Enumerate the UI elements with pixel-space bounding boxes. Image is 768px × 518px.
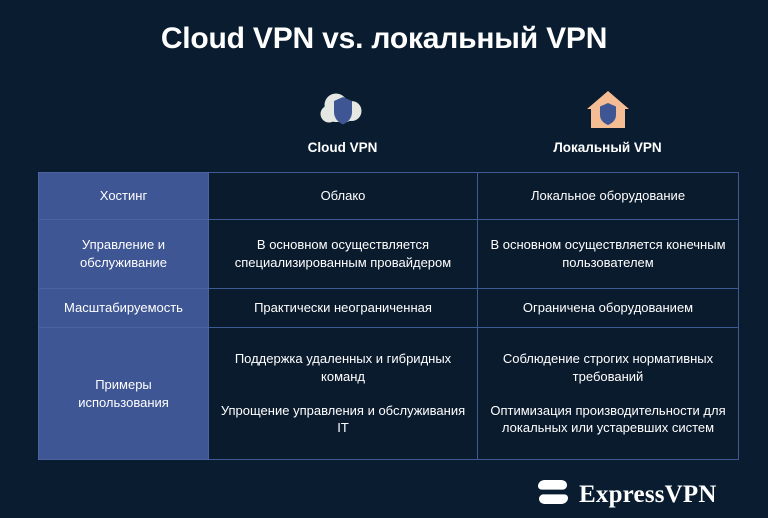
column-header-cloud-label: Cloud VPN (308, 140, 378, 155)
cell-onprem-usecases-item-1: Соблюдение строгих нормативных требовани… (488, 350, 728, 385)
expressvpn-wordmark: ExpressVPN (579, 482, 717, 507)
page-title: Cloud VPN vs. локальный VPN (0, 22, 768, 56)
cloud-shield-icon (320, 86, 366, 134)
expressvpn-logo-icon (536, 477, 570, 512)
cell-cloud-usecases-item-1: Поддержка удаленных и гибридных команд (219, 350, 467, 385)
comparison-table: Хостинг Облако Локальное оборудование Уп… (38, 172, 739, 460)
column-header-onprem: Локальный VPN (477, 86, 738, 164)
cell-cloud-hosting: Облако (209, 173, 478, 220)
house-shield-icon (585, 86, 631, 134)
row-header-scalability: Масштабируемость (39, 289, 209, 328)
cell-cloud-management: В основном осуществляется специализирова… (209, 220, 478, 289)
row-header-hosting: Хостинг (39, 173, 209, 220)
row-header-usecases: Примеры использования (39, 328, 209, 460)
cell-onprem-hosting: Локальное оборудование (478, 173, 739, 220)
table-row: Хостинг Облако Локальное оборудование (39, 173, 739, 220)
column-header-onprem-label: Локальный VPN (553, 140, 661, 155)
table-row: Примеры использования Поддержка удаленны… (39, 328, 739, 460)
cell-onprem-management: В основном осуществляется конечным польз… (478, 220, 739, 289)
row-header-management: Управление и обслуживание (39, 220, 209, 289)
cell-onprem-usecases-item-2: Оптимизация производительности для локал… (488, 402, 728, 437)
cell-cloud-usecases: Поддержка удаленных и гибридных команд У… (209, 328, 478, 460)
expressvpn-branding: ExpressVPN (536, 477, 717, 512)
column-header-cloud: Cloud VPN (208, 86, 477, 164)
infographic-page: Cloud VPN vs. локальный VPN Cloud VPN (0, 0, 768, 518)
cell-onprem-scalability: Ограничена оборудованием (478, 289, 739, 328)
table-row: Управление и обслуживание В основном осу… (39, 220, 739, 289)
cell-cloud-scalability: Практически неограниченная (209, 289, 478, 328)
cell-onprem-usecases: Соблюдение строгих нормативных требовани… (478, 328, 739, 460)
table-row: Масштабируемость Практически неограничен… (39, 289, 739, 328)
column-headers: Cloud VPN Локальный VPN (208, 86, 738, 164)
cell-cloud-usecases-item-2: Упрощение управления и обслуживания IT (219, 402, 467, 437)
